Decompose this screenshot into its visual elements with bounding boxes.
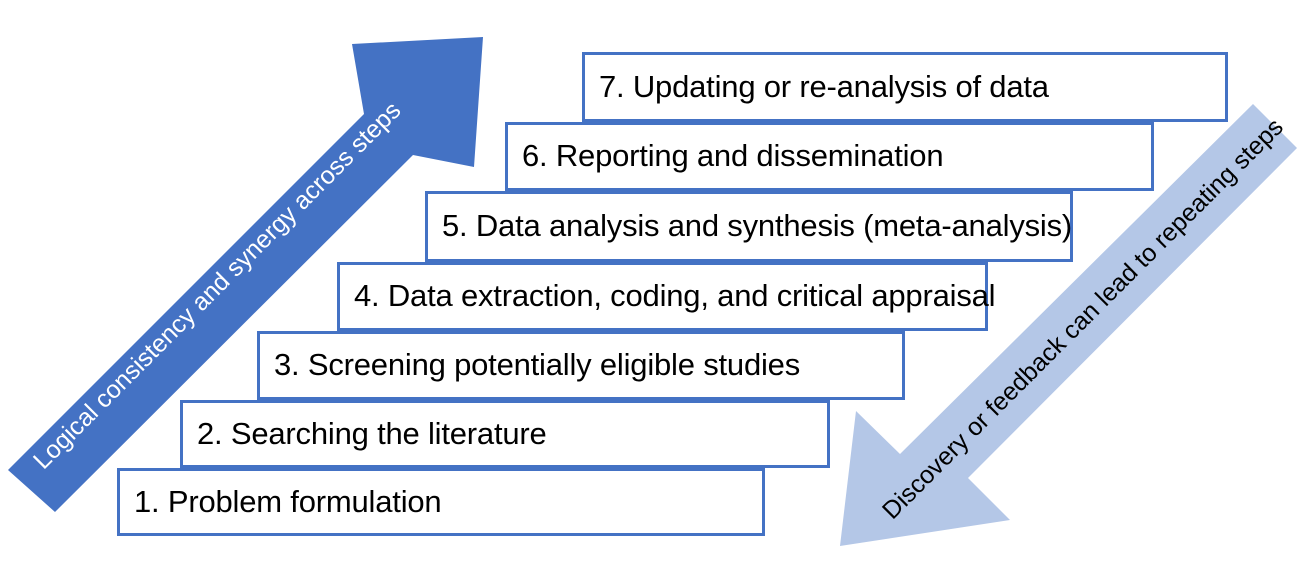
step-box-2[interactable]: 2. Searching the literature [180, 400, 830, 468]
diagram-canvas: Logical consistency and synergy across s… [0, 0, 1300, 568]
step-label-1: 1. Problem formulation [120, 486, 441, 519]
step-box-4[interactable]: 4. Data extraction, coding, and critical… [337, 262, 988, 331]
step-label-4: 4. Data extraction, coding, and critical… [340, 280, 995, 313]
step-box-3[interactable]: 3. Screening potentially eligible studie… [257, 331, 905, 400]
step-label-3: 3. Screening potentially eligible studie… [260, 349, 800, 382]
step-label-6: 6. Reporting and dissemination [508, 140, 943, 173]
step-label-2: 2. Searching the literature [183, 418, 547, 451]
step-label-5: 5. Data analysis and synthesis (meta-ana… [428, 210, 1072, 243]
step-box-1[interactable]: 1. Problem formulation [117, 468, 765, 536]
step-box-6[interactable]: 6. Reporting and dissemination [505, 122, 1154, 191]
step-label-7: 7. Updating or re-analysis of data [585, 71, 1049, 104]
step-box-5[interactable]: 5. Data analysis and synthesis (meta-ana… [425, 191, 1073, 262]
step-box-7[interactable]: 7. Updating or re-analysis of data [582, 52, 1228, 122]
